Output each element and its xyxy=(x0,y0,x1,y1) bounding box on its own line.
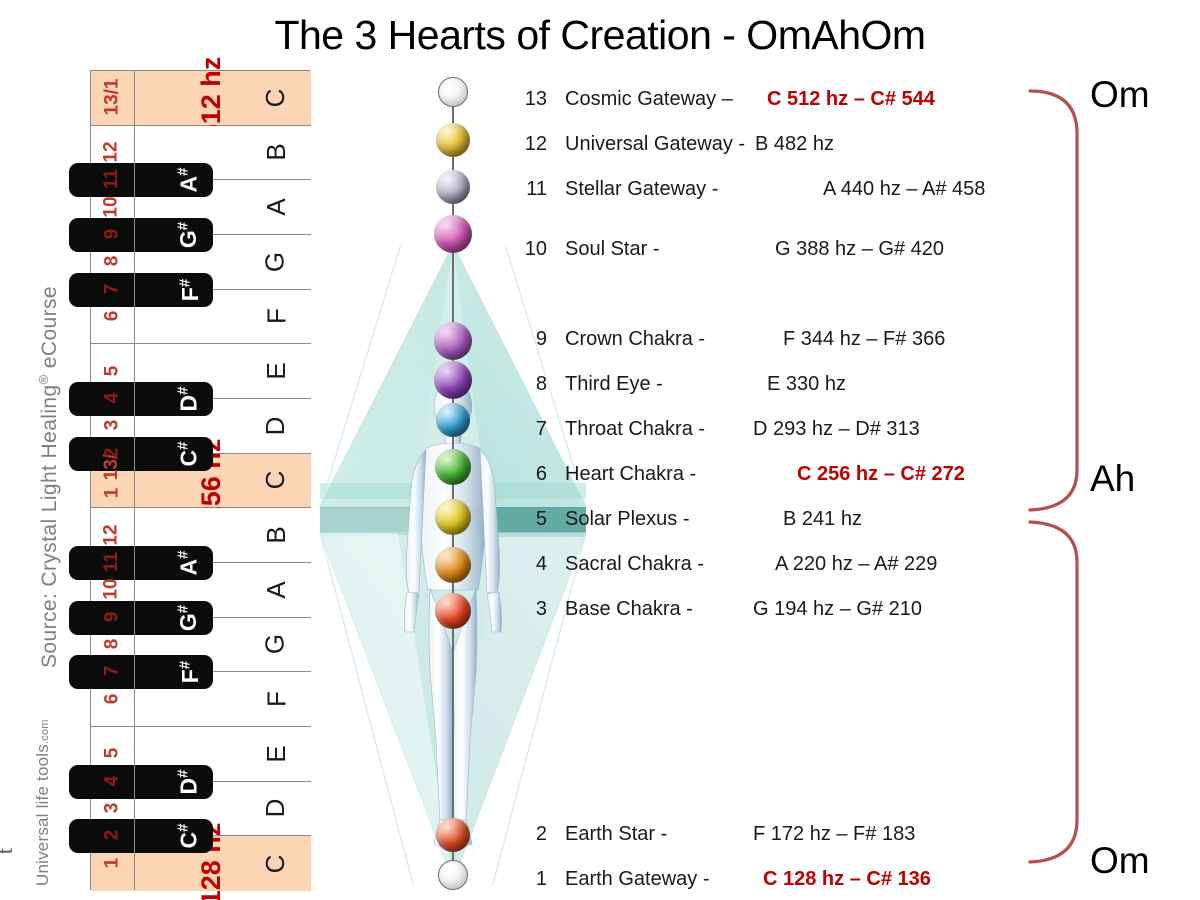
brand-attribution: Universal life tools.com xyxy=(33,719,53,886)
chakra-sphere-gold xyxy=(436,123,470,157)
chakra-row: 1Earth Gateway -C 128 hz – C# 136 xyxy=(505,868,1025,894)
chakra-row: 4Sacral Chakra -A 220 hz – A# 229 xyxy=(505,553,1025,579)
chakra-frequency: G 388 hz – G# 420 xyxy=(775,238,944,261)
white-key-note-label: A xyxy=(261,198,292,215)
chakra-frequency: C 256 hz – C# 272 xyxy=(797,463,965,486)
chakra-name: Throat Chakra - xyxy=(565,418,705,441)
chakra-name: Heart Chakra - xyxy=(565,463,696,486)
chakra-row: 5Solar Plexus -B 241 hz xyxy=(505,508,1025,534)
chakra-sphere-clear xyxy=(438,860,468,890)
black-key-note-label: F# xyxy=(176,661,204,683)
brand-domain-suffix: .com xyxy=(39,719,51,744)
chakra-frequency: D 293 hz – D# 313 xyxy=(753,418,920,441)
chakra-sphere-orange xyxy=(435,547,471,583)
chakra-sphere-clear xyxy=(438,77,468,107)
key-number-label: 3 xyxy=(90,797,134,819)
key-number-label: 9 xyxy=(90,223,134,245)
white-key-note-label: G xyxy=(259,634,290,654)
key-number-label: 4 xyxy=(90,387,134,409)
key-number-label: 6 xyxy=(90,305,134,327)
black-key-note-label: D# xyxy=(175,387,203,412)
white-key-note-label: G xyxy=(259,252,290,272)
key-number-label: 4 xyxy=(90,770,134,792)
registered-mark-icon: ® xyxy=(36,374,51,384)
chakra-row: 7Throat Chakra -D 293 hz – D# 313 xyxy=(505,418,1025,444)
chakra-number: 12 xyxy=(513,133,547,156)
key-number-label: 8 xyxy=(90,250,134,272)
chakra-frequency-list: 13Cosmic Gateway –C 512 hz – C# 54412Uni… xyxy=(505,70,1025,900)
key-number-label: 5 xyxy=(90,360,134,382)
white-key-note-label: E xyxy=(261,745,292,762)
chakra-frequency: A 220 hz – A# 229 xyxy=(775,553,937,576)
white-key-note-label: E xyxy=(261,362,292,379)
key-number-label: 2 xyxy=(90,824,134,846)
chakra-name: Third Eye - xyxy=(565,373,663,396)
chakra-number: 8 xyxy=(513,373,547,396)
key-number-label: 2 xyxy=(90,442,134,464)
white-key-note-label: C xyxy=(260,88,291,107)
black-key-note-label: A# xyxy=(175,551,203,576)
brand-name: Universal life tools xyxy=(33,744,52,886)
chakra-number: 2 xyxy=(513,823,547,846)
slide-canvas: The 3 Hearts of Creation - OmAhOm Source… xyxy=(0,0,1200,900)
key-number-label: 13/1 xyxy=(90,86,134,108)
chakra-sphere-blue xyxy=(436,403,470,437)
chakra-row: 10Soul Star -G 388 hz – G# 420 xyxy=(505,238,1025,264)
key-number-label: 5 xyxy=(90,742,134,764)
key-number-label: 1 xyxy=(90,852,134,874)
page-title: The 3 Hearts of Creation - OmAhOm xyxy=(0,12,1200,59)
chakra-frequency: A 440 hz – A# 458 xyxy=(823,178,985,201)
chakra-name: Sacral Chakra - xyxy=(565,553,704,576)
chakra-frequency: F 344 hz – F# 366 xyxy=(783,328,945,351)
chakra-number: 13 xyxy=(513,88,547,111)
key-number-label: 9 xyxy=(90,606,134,628)
chakra-sphere-yellow xyxy=(435,499,471,535)
source-attribution: Source: Crystal Light Healing® eCourse xyxy=(36,286,62,668)
source-text-tail: eCourse xyxy=(38,286,61,374)
chakra-number: 7 xyxy=(513,418,547,441)
chakra-sphere-earthred xyxy=(436,818,470,852)
white-key-note-label: D xyxy=(260,799,291,818)
black-key-note-label: D# xyxy=(175,769,203,794)
key-number-label: 7 xyxy=(90,660,134,682)
chakra-frequency: G 194 hz – G# 210 xyxy=(753,598,922,621)
white-key-note-label: F xyxy=(262,309,293,325)
chakra-row: 11Stellar Gateway -A 440 hz – A# 458 xyxy=(505,178,1025,204)
source-text-main: Source: Crystal Light Healing xyxy=(38,384,61,668)
brand-logo-icon: ƭ xyxy=(0,848,18,854)
brace-label-ah: Ah xyxy=(1090,458,1135,500)
white-key-note-label: B xyxy=(261,144,292,161)
chakra-row: 9Crown Chakra -F 344 hz – F# 366 xyxy=(505,328,1025,354)
number-column-divider xyxy=(134,70,135,890)
black-key-note-label: A# xyxy=(175,168,203,193)
key-number-label: 11 xyxy=(90,551,134,573)
chakra-sphere-silver xyxy=(436,170,470,204)
chakra-name: Stellar Gateway - xyxy=(565,178,718,201)
white-key-note-label: C xyxy=(260,471,291,490)
chakra-frequency: E 330 hz xyxy=(767,373,846,396)
brace-label-om-top: Om xyxy=(1090,74,1150,116)
white-key-note-label: A xyxy=(261,581,292,598)
brace-label-om-bottom: Om xyxy=(1090,840,1150,882)
black-key-note-label: C# xyxy=(175,824,203,849)
chakra-name: Earth Gateway - xyxy=(565,868,710,891)
chakra-frequency: F 172 hz – F# 183 xyxy=(753,823,915,846)
key-number-label: 12 xyxy=(90,524,134,546)
chakra-sphere-violet xyxy=(434,322,472,360)
chakra-sphere-red xyxy=(435,593,471,629)
chakra-sphere-purple xyxy=(434,361,472,399)
key-number-label: 7 xyxy=(90,278,134,300)
key-number-label: 10 xyxy=(90,578,134,600)
chakra-frequency: C 128 hz – C# 136 xyxy=(763,868,931,891)
chakra-frequency: B 482 hz xyxy=(755,133,834,156)
black-key-note-label: G# xyxy=(174,605,202,631)
chakra-number: 10 xyxy=(513,238,547,261)
chakra-name: Universal Gateway - xyxy=(565,133,745,156)
chakra-frequency: B 241 hz xyxy=(783,508,862,531)
key-number-label: 3 xyxy=(90,414,134,436)
chakra-number: 1 xyxy=(513,868,547,891)
om-ah-om-braces: Om Ah Om xyxy=(1020,60,1200,900)
white-key-note-label: B xyxy=(261,526,292,543)
key-number-label: 6 xyxy=(90,688,134,710)
chakra-number: 3 xyxy=(513,598,547,621)
chakra-row: 12Universal Gateway -B 482 hz xyxy=(505,133,1025,159)
chakra-number: 9 xyxy=(513,328,547,351)
chakra-name: Soul Star - xyxy=(565,238,659,261)
chakra-number: 6 xyxy=(513,463,547,486)
chakra-row: 13Cosmic Gateway –C 512 hz – C# 544 xyxy=(505,88,1025,114)
white-key-note-label: F xyxy=(262,691,293,707)
keyboard-number-column: 13/11210865313/1121086531119742119742 xyxy=(90,70,138,890)
chakra-number: 11 xyxy=(513,178,547,201)
chakra-row: 3Base Chakra -G 194 hz – G# 210 xyxy=(505,598,1025,624)
chakra-row: 6Heart Chakra -C 256 hz – C# 272 xyxy=(505,463,1025,489)
chakra-name: Base Chakra - xyxy=(565,598,693,621)
chakra-frequency: C 512 hz – C# 544 xyxy=(767,88,935,111)
chakra-name: Earth Star - xyxy=(565,823,667,846)
chakra-row: 2Earth Star -F 172 hz – F# 183 xyxy=(505,823,1025,849)
black-key-note-label: G# xyxy=(174,222,202,248)
chakra-row: 8Third Eye -E 330 hz xyxy=(505,373,1025,399)
key-number-label: 10 xyxy=(90,196,134,218)
black-key-note-label: F# xyxy=(176,278,204,300)
white-key-note-label: C xyxy=(260,854,291,873)
chakra-number: 4 xyxy=(513,553,547,576)
white-key-note-label: D xyxy=(260,416,291,435)
key-number-label: 12 xyxy=(90,141,134,163)
chakra-sphere-magenta xyxy=(434,215,472,253)
chakra-name: Crown Chakra - xyxy=(565,328,705,351)
key-number-label: 11 xyxy=(90,168,134,190)
chakra-name: Solar Plexus - xyxy=(565,508,690,531)
key-number-label: 1 xyxy=(90,482,134,504)
key-number-label: 8 xyxy=(90,633,134,655)
chakra-sphere-green xyxy=(435,449,471,485)
black-key-note-label: C# xyxy=(175,441,203,466)
chakra-name: Cosmic Gateway – xyxy=(565,88,733,111)
chakra-number: 5 xyxy=(513,508,547,531)
